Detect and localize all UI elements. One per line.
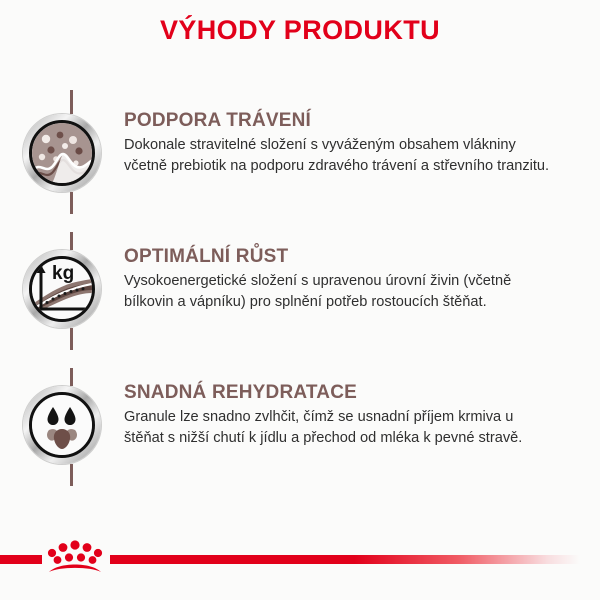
badge-ring [29,120,95,186]
benefit-item-digestion: PODPORA TRÁVENÍ Dokonale stravitelné slo… [0,96,600,232]
page-title: VÝHODY PRODUKTU [0,16,600,46]
connector-line-top [70,90,73,114]
connector-line-bottom [70,464,73,486]
benefit-icon-column: kg [0,232,124,328]
digestive-health-glyph [32,123,92,183]
connector-line-top [70,232,73,250]
connector-line-bottom [70,192,73,214]
royal-canin-crown-logo [43,537,107,577]
connector-line-bottom [70,328,73,350]
benefit-item-growth: kg OPTIMÁLNÍ RŮST Vysokoenergetické slož… [0,232,600,368]
footer-brand-bar [0,534,600,578]
benefit-body: Vysokoenergetické složení s upravenou úr… [124,271,554,312]
benefit-icon-column [0,96,124,192]
benefit-text-column: SNADNÁ REHYDRATACE Granule lze snadno zv… [124,368,600,448]
benefit-title: PODPORA TRÁVENÍ [124,110,578,132]
benefit-item-rehydration: SNADNÁ REHYDRATACE Granule lze snadno zv… [0,368,600,504]
benefits-list: PODPORA TRÁVENÍ Dokonale stravitelné slo… [0,96,600,504]
benefit-text-column: OPTIMÁLNÍ RŮST Vysokoenergetické složení… [124,232,600,312]
optimal-growth-icon: kg [23,250,101,328]
benefit-body: Dokonale stravitelné složení s vyváženým… [124,135,554,176]
digestive-health-icon [23,114,101,192]
benefit-title: OPTIMÁLNÍ RŮST [124,246,578,268]
easy-rehydration-icon [23,386,101,464]
brand-bar-left-segment [0,555,42,564]
benefit-text-column: PODPORA TRÁVENÍ Dokonale stravitelné slo… [124,96,600,176]
badge-ring [29,392,95,458]
brand-bar-right-segment [110,555,580,564]
benefit-body: Granule lze snadno zvlhčit, čímž se usna… [124,407,554,448]
benefit-icon-column [0,368,124,464]
connector-line-top [70,368,73,386]
growth-icon-label: kg [52,263,74,284]
benefits-page: VÝHODY PRODUKTU [0,0,600,600]
optimal-growth-glyph: kg [32,259,92,319]
benefit-title: SNADNÁ REHYDRATACE [124,382,578,404]
easy-rehydration-glyph [32,395,92,455]
badge-ring: kg [29,256,95,322]
